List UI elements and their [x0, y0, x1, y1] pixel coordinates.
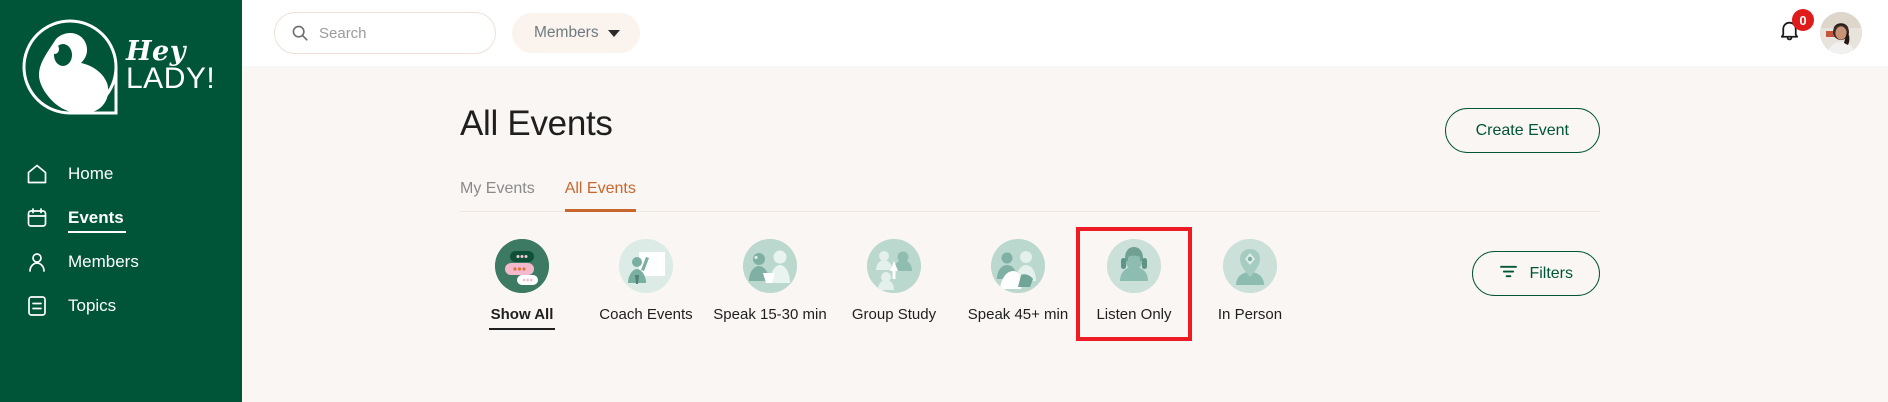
- tab-my-events[interactable]: My Events: [460, 180, 535, 211]
- category-label: Listen Only: [1096, 306, 1171, 323]
- category-in-person[interactable]: In Person: [1188, 231, 1312, 323]
- search-icon: [291, 24, 309, 42]
- page-header: All Events Create Event: [460, 66, 1600, 153]
- sidebar-item-events[interactable]: Events: [0, 196, 242, 240]
- sidebar-item-label: Members: [68, 252, 139, 272]
- filters-button[interactable]: Filters: [1472, 251, 1600, 296]
- topbar-right-cluster: 0: [1774, 12, 1862, 54]
- sidebar-nav: Home Events: [0, 152, 242, 328]
- person-icon: [22, 247, 52, 277]
- sidebar-item-label: Home: [68, 164, 113, 184]
- sidebar-item-topics[interactable]: Topics: [0, 284, 242, 328]
- brand-logo[interactable]: Hey LADY!: [0, 0, 242, 122]
- sidebar: Hey LADY! Home: [0, 0, 242, 402]
- app-root: Hey LADY! Home: [0, 0, 1888, 402]
- content-inner: All Events Create Event My Events All Ev…: [242, 66, 1888, 337]
- list-document-icon: [22, 291, 52, 321]
- sidebar-item-members[interactable]: Members: [0, 240, 242, 284]
- sidebar-item-label: Topics: [68, 296, 116, 316]
- category-speak-45-plus-min[interactable]: Speak 45+ min: [956, 231, 1080, 323]
- category-show-all[interactable]: Show All: [460, 231, 584, 323]
- category-speak-15-30-min[interactable]: Speak 15-30 min: [708, 231, 832, 323]
- notification-count-badge: 0: [1792, 9, 1814, 31]
- search-box[interactable]: [274, 12, 496, 54]
- category-label: Group Study: [852, 306, 936, 323]
- create-event-button[interactable]: Create Event: [1445, 108, 1600, 153]
- top-bar: Members 0: [242, 0, 1888, 66]
- content-area: All Events Create Event My Events All Ev…: [242, 66, 1888, 337]
- avatar[interactable]: [1820, 12, 1862, 54]
- filters-button-label: Filters: [1529, 265, 1573, 283]
- map-pin-icon: [1223, 239, 1277, 293]
- main-area: Members 0: [242, 0, 1888, 402]
- sidebar-item-home[interactable]: Home: [0, 152, 242, 196]
- category-listen-only[interactable]: Listen Only: [1080, 231, 1188, 337]
- page-title: All Events: [460, 104, 613, 144]
- category-group-study[interactable]: Group Study: [832, 231, 956, 323]
- category-coach-events[interactable]: Coach Events: [584, 231, 708, 323]
- brand-hey: Hey: [126, 40, 215, 64]
- search-input[interactable]: [319, 25, 479, 42]
- category-label: In Person: [1218, 306, 1282, 323]
- category-filter-row: Show All: [460, 231, 1600, 337]
- chat-bubbles-icon: [495, 239, 549, 293]
- category-label: Speak 45+ min: [968, 306, 1068, 323]
- brand-lady: LADY!: [126, 64, 215, 94]
- chevron-down-icon: [608, 30, 620, 37]
- tab-bar: My Events All Events: [460, 180, 1600, 212]
- sidebar-item-label: Events: [68, 208, 124, 228]
- group-study-icon: [867, 239, 921, 293]
- coach-presenter-icon: [619, 239, 673, 293]
- category-label: Show All: [491, 306, 554, 323]
- home-icon: [22, 159, 52, 189]
- category-label: Coach Events: [599, 306, 692, 323]
- filter-funnel-icon: [1499, 264, 1518, 284]
- scope-dropdown-label: Members: [534, 24, 599, 42]
- scope-dropdown[interactable]: Members: [512, 13, 640, 53]
- tab-all-events[interactable]: All Events: [565, 180, 636, 211]
- headphones-icon: [1107, 239, 1161, 293]
- brand-wordmark: Hey LADY!: [126, 40, 215, 94]
- calendar-icon: [22, 203, 52, 233]
- hey-lady-logo-icon: [18, 15, 130, 119]
- category-label: Speak 15-30 min: [713, 306, 826, 323]
- two-speakers-icon: [743, 239, 797, 293]
- notifications-button[interactable]: 0: [1774, 18, 1804, 48]
- group-talk-icon: [991, 239, 1045, 293]
